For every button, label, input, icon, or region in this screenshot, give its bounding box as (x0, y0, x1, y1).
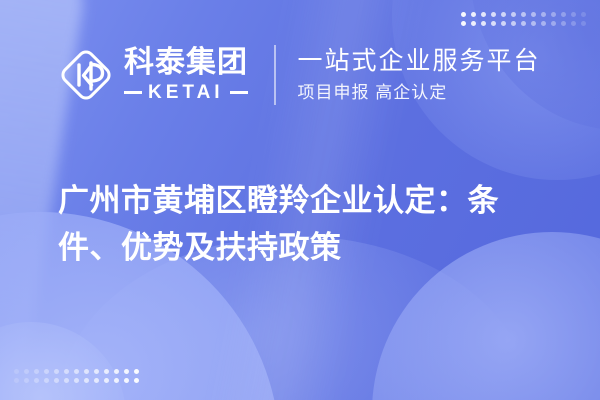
page-title: 广州市黄埔区瞪羚企业认定：条件、优势及扶持政策 (58, 177, 558, 271)
dot (104, 378, 109, 383)
dot-grid-bottom-left (14, 369, 139, 383)
dot (84, 369, 89, 374)
dot (64, 378, 69, 383)
dot (94, 378, 99, 383)
dot (74, 369, 79, 374)
dot (24, 369, 29, 374)
slogan-primary: 一站式企业服务平台 (298, 47, 541, 76)
ketai-diamond-kd-logo-icon (58, 47, 114, 103)
dot (14, 378, 19, 383)
dot-grid-row (14, 369, 139, 374)
dot (14, 369, 19, 374)
dot (64, 369, 69, 374)
dot (94, 369, 99, 374)
banner-header: 科泰集团 KETAI 一站式企业服务平台 项目申报 高企认定 (0, 0, 600, 150)
brand-text: 科泰集团 KETAI (124, 48, 248, 102)
header-divider (274, 45, 276, 105)
dot (134, 378, 139, 383)
brand-lockup: 科泰集团 KETAI (58, 47, 248, 103)
company-name-en-row: KETAI (124, 83, 248, 102)
company-name-cn: 科泰集团 (124, 48, 248, 78)
dot (134, 369, 139, 374)
dot (34, 378, 39, 383)
dot (124, 369, 129, 374)
banner-image: 科泰集团 KETAI 一站式企业服务平台 项目申报 高企认定 广州市黄埔区瞪羚企… (0, 0, 600, 400)
company-name-en: KETAI (148, 83, 224, 102)
dot (104, 369, 109, 374)
slogan-secondary: 项目申报 高企认定 (298, 83, 541, 103)
slogan-block: 一站式企业服务平台 项目申报 高企认定 (298, 47, 541, 102)
dot-grid-row (14, 378, 139, 383)
dot (84, 378, 89, 383)
dot (24, 378, 29, 383)
dot (54, 378, 59, 383)
dot (74, 378, 79, 383)
dot (114, 369, 119, 374)
dash-right-icon (230, 91, 248, 94)
dot (34, 369, 39, 374)
dot (44, 369, 49, 374)
dot (44, 378, 49, 383)
dot (54, 369, 59, 374)
dot (124, 378, 129, 383)
dash-left-icon (124, 91, 142, 94)
dot (114, 378, 119, 383)
kd-monogram-icon (58, 47, 114, 103)
